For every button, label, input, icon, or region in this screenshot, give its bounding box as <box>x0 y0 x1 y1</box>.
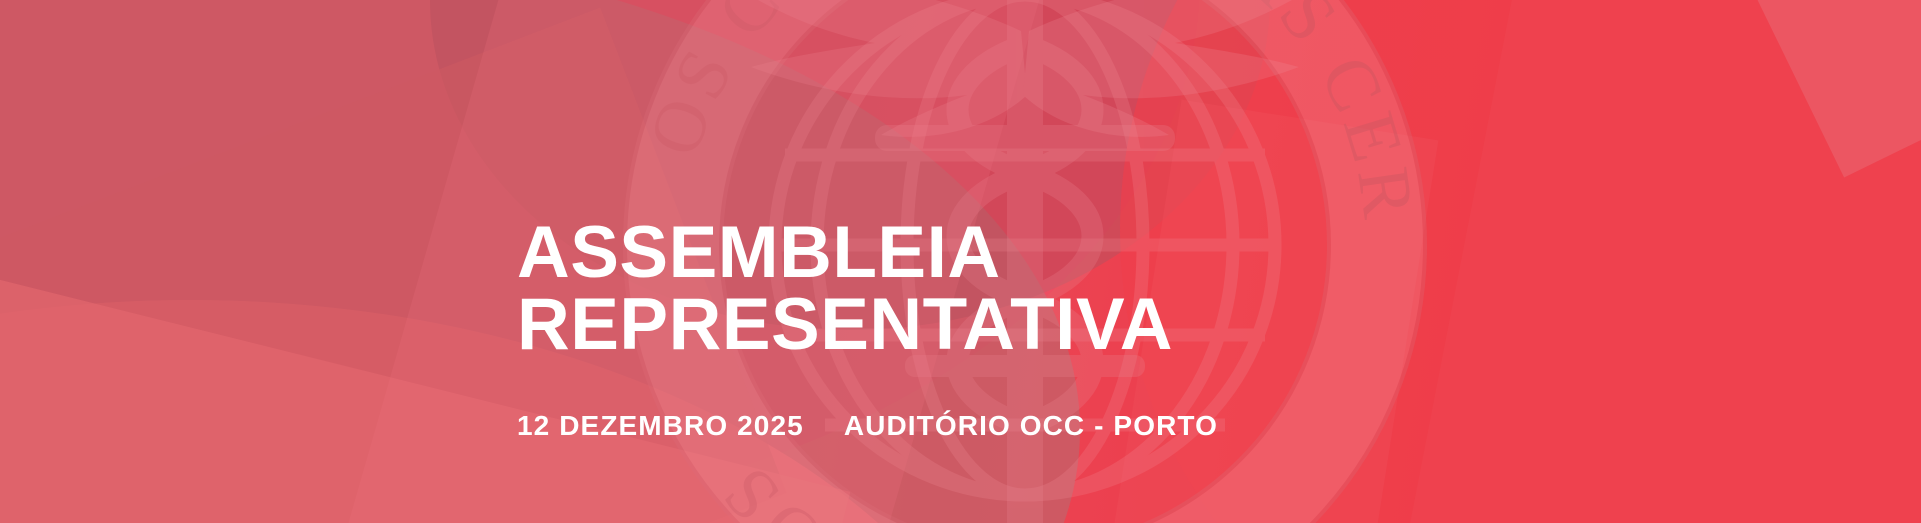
title-line-1: ASSEMBLEIA <box>517 217 1173 289</box>
event-meta: 12 DEZEMBRO 2025 AUDITÓRIO OCC - PORTO <box>517 410 1177 442</box>
event-banner: OS CONTABILISTAS CERTIFICADOS ORDEM DOS <box>0 0 1921 523</box>
event-date: 12 DEZEMBRO 2025 <box>517 410 804 442</box>
page-title: ASSEMBLEIA REPRESENTATIVA <box>517 217 1173 361</box>
title-line-2: REPRESENTATIVA <box>517 289 1173 361</box>
banner-content: ASSEMBLEIA REPRESENTATIVA 12 DEZEMBRO 20… <box>517 0 1617 523</box>
background-ray-right-upper <box>1660 0 1921 177</box>
event-venue: AUDITÓRIO OCC - PORTO <box>844 410 1218 442</box>
